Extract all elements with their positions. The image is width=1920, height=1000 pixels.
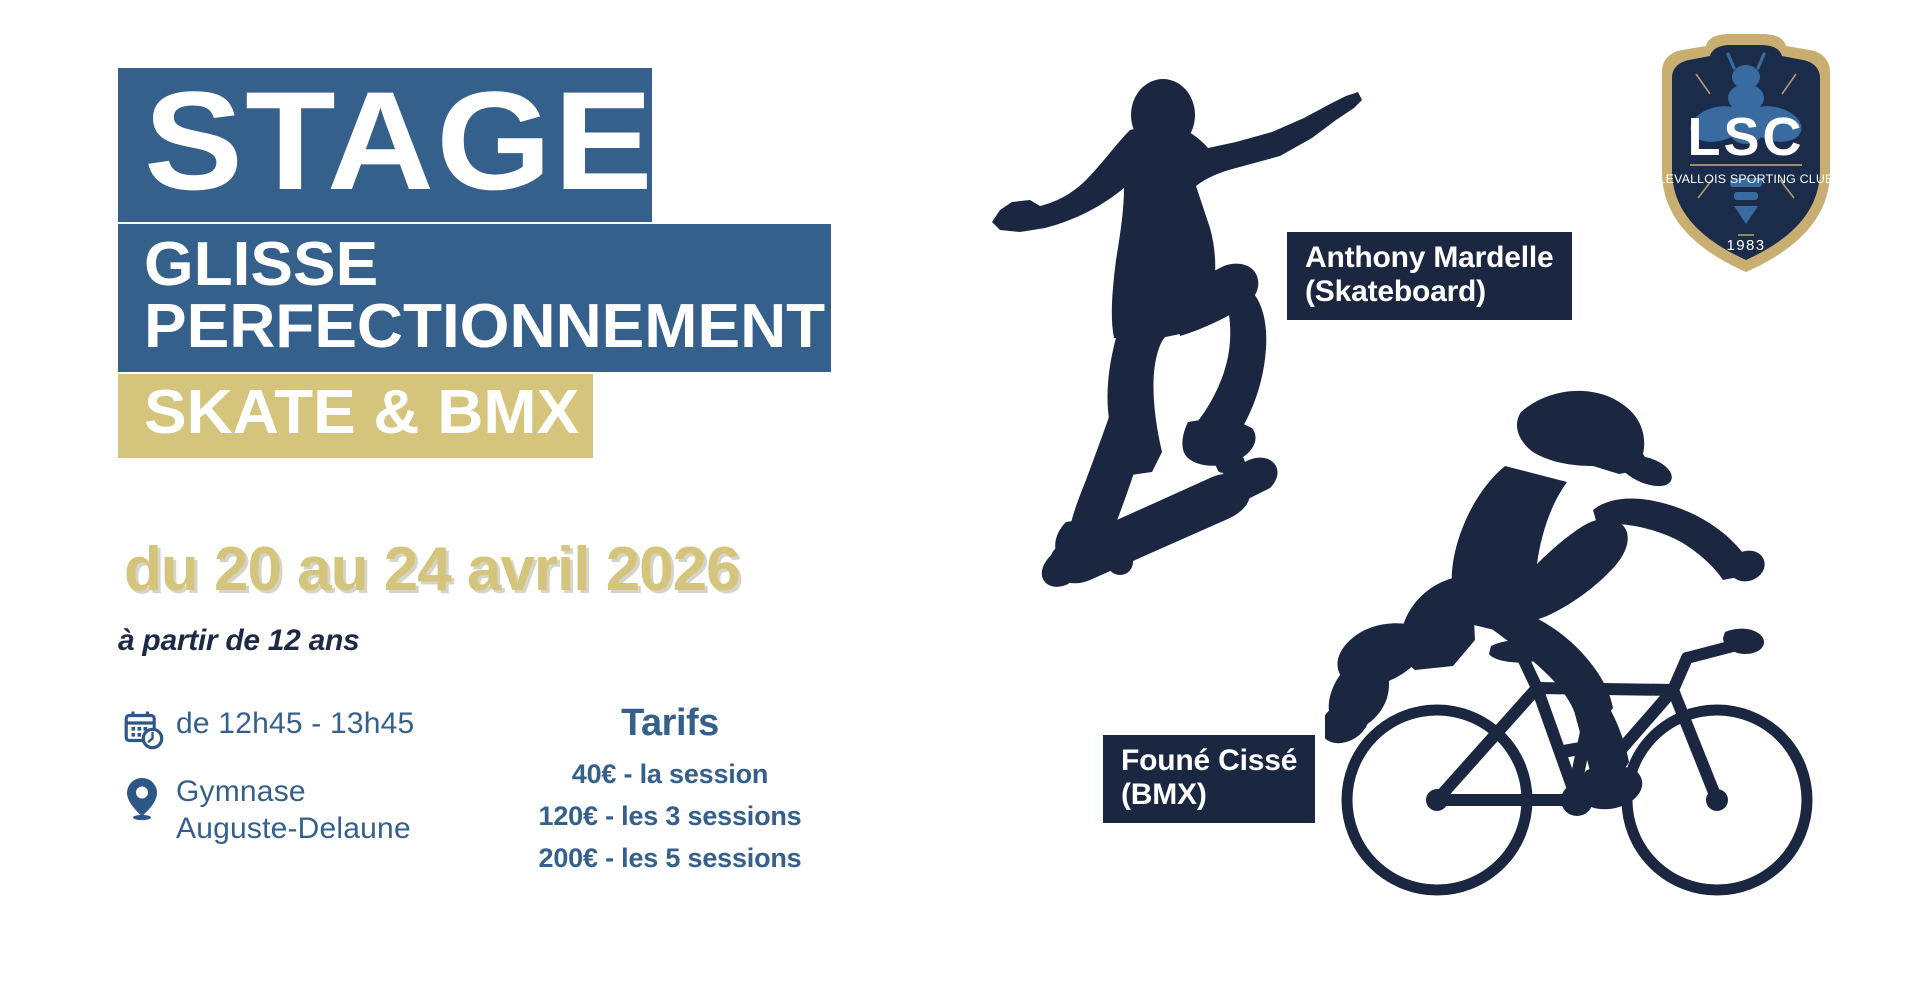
- pricing-block: Tarifs 40€ - la session 120€ - les 3 ses…: [500, 702, 840, 885]
- disciplines-label: SKATE & BMX: [144, 382, 579, 444]
- page-title: STAGE: [144, 82, 655, 200]
- pricing-item: 200€ - les 5 sessions: [500, 843, 840, 874]
- pricing-item: 40€ - la session: [500, 759, 840, 790]
- event-dates: du 20 au 24 avril 2026: [124, 534, 740, 605]
- lsc-club-logo: LSC LEVALLOIS SPORTING CLUB 1983: [1646, 32, 1846, 277]
- coach-discipline: (Skateboard): [1305, 275, 1554, 309]
- pricing-item: 120€ - les 3 sessions: [500, 801, 840, 832]
- logo-founded-year: 1983: [1727, 237, 1766, 254]
- info-row-schedule: de 12h45 - 13h45: [118, 706, 498, 752]
- skateboarder-silhouette: [880, 60, 1400, 620]
- logo-club-name: LEVALLOIS SPORTING CLUB: [1659, 172, 1834, 186]
- subtitle-line-2: PERFECTIONNEMENT: [144, 296, 825, 358]
- pricing-title: Tarifs: [500, 702, 840, 745]
- bmx-rider-silhouette: [1325, 370, 1885, 930]
- venue-line-2: Auguste-Delaune: [176, 812, 411, 845]
- calendar-clock-icon: [118, 706, 170, 752]
- poster-canvas: STAGE GLISSE PERFECTIONNEMENT SKATE & BM…: [0, 0, 1920, 1000]
- info-row-venue: Gymnase Auguste-Delaune: [118, 774, 498, 847]
- venue-text: Gymnase Auguste-Delaune: [170, 774, 411, 847]
- coach-label-bmx: Founé Cissé (BMX): [1103, 735, 1315, 823]
- info-block: de 12h45 - 13h45 Gymnase Auguste-Delaune: [118, 706, 498, 869]
- coach-name: Anthony Mardelle: [1305, 241, 1554, 275]
- schedule-text: de 12h45 - 13h45: [170, 706, 414, 743]
- coach-discipline: (BMX): [1121, 778, 1297, 812]
- coach-label-skateboard: Anthony Mardelle (Skateboard): [1287, 232, 1572, 320]
- age-requirement: à partir de 12 ans: [118, 624, 359, 658]
- coach-name: Founé Cissé: [1121, 744, 1297, 778]
- title-band-disciplines: SKATE & BMX: [118, 374, 593, 458]
- logo-initials: LSC: [1688, 107, 1805, 167]
- title-stack: STAGE GLISSE PERFECTIONNEMENT SKATE & BM…: [118, 68, 831, 458]
- title-band-stage: STAGE: [118, 68, 652, 222]
- venue-line-1: Gymnase: [176, 775, 306, 808]
- subtitle-line-1: GLISSE: [144, 234, 825, 296]
- title-band-subtitle: GLISSE PERFECTIONNEMENT: [118, 224, 831, 372]
- map-pin-icon: [118, 774, 170, 822]
